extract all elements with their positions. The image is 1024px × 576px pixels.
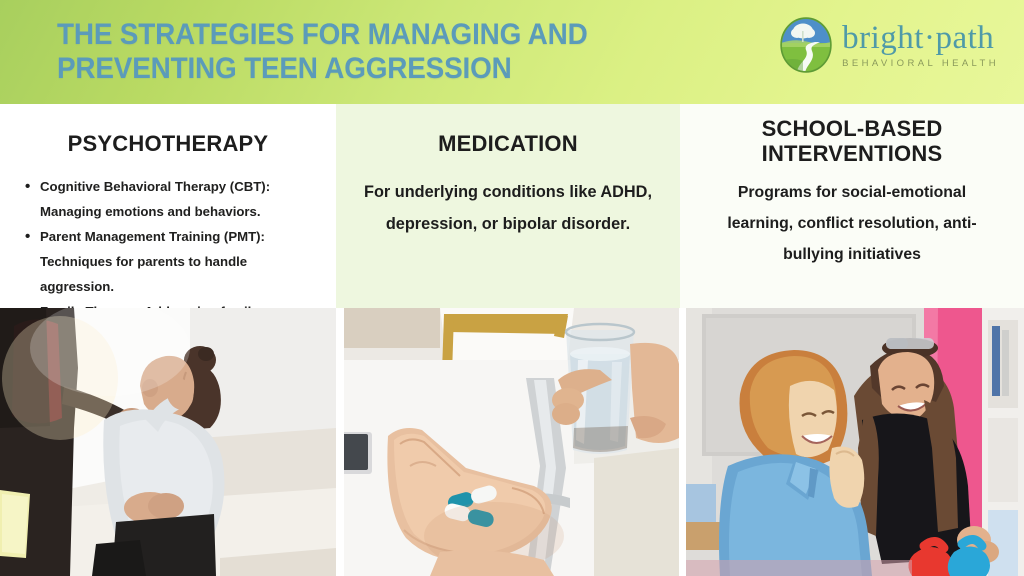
column-medication: MEDICATION For underlying conditions lik… <box>336 104 680 308</box>
brand-wordmark: bright·path <box>842 22 999 55</box>
brightpath-circle-logo-icon <box>779 17 833 73</box>
list-item: Cognitive Behavioral Therapy (CBT): Mana… <box>24 174 322 224</box>
column-body-medication: For underlying conditions like ADHD, dep… <box>362 176 654 240</box>
page-title: THE STRATEGIES FOR MANAGING AND PREVENTI… <box>57 18 652 86</box>
page-header: THE STRATEGIES FOR MANAGING AND PREVENTI… <box>0 0 1024 104</box>
column-heading-medication: MEDICATION <box>336 131 680 156</box>
brand-wordmark-group: bright·path BEHAVIORAL HEALTH <box>842 22 999 69</box>
column-heading-psychotherapy: PSYCHOTHERAPY <box>0 131 336 156</box>
column-psychotherapy: PSYCHOTHERAPY Cognitive Behavioral Thera… <box>0 104 336 308</box>
column-school-based-interventions: SCHOOL-BASED INTERVENTIONS Programs for … <box>680 104 1024 308</box>
column-body-school-based-interventions: Programs for social-emotional learning, … <box>706 177 998 270</box>
photo-therapy-session <box>0 308 336 576</box>
brand-tagline: BEHAVIORAL HEALTH <box>842 58 999 69</box>
photo-medication-pills <box>344 308 679 576</box>
list-item: Parent Management Training (PMT): Techni… <box>24 224 322 299</box>
strategy-columns: PSYCHOTHERAPY Cognitive Behavioral Thera… <box>0 104 1024 308</box>
brand-logo: bright·path BEHAVIORAL HEALTH <box>779 17 999 73</box>
photo-school-intervention <box>686 308 1024 576</box>
photo-strip <box>0 308 1024 576</box>
column-heading-school-based-interventions: SCHOOL-BASED INTERVENTIONS <box>680 116 1024 166</box>
